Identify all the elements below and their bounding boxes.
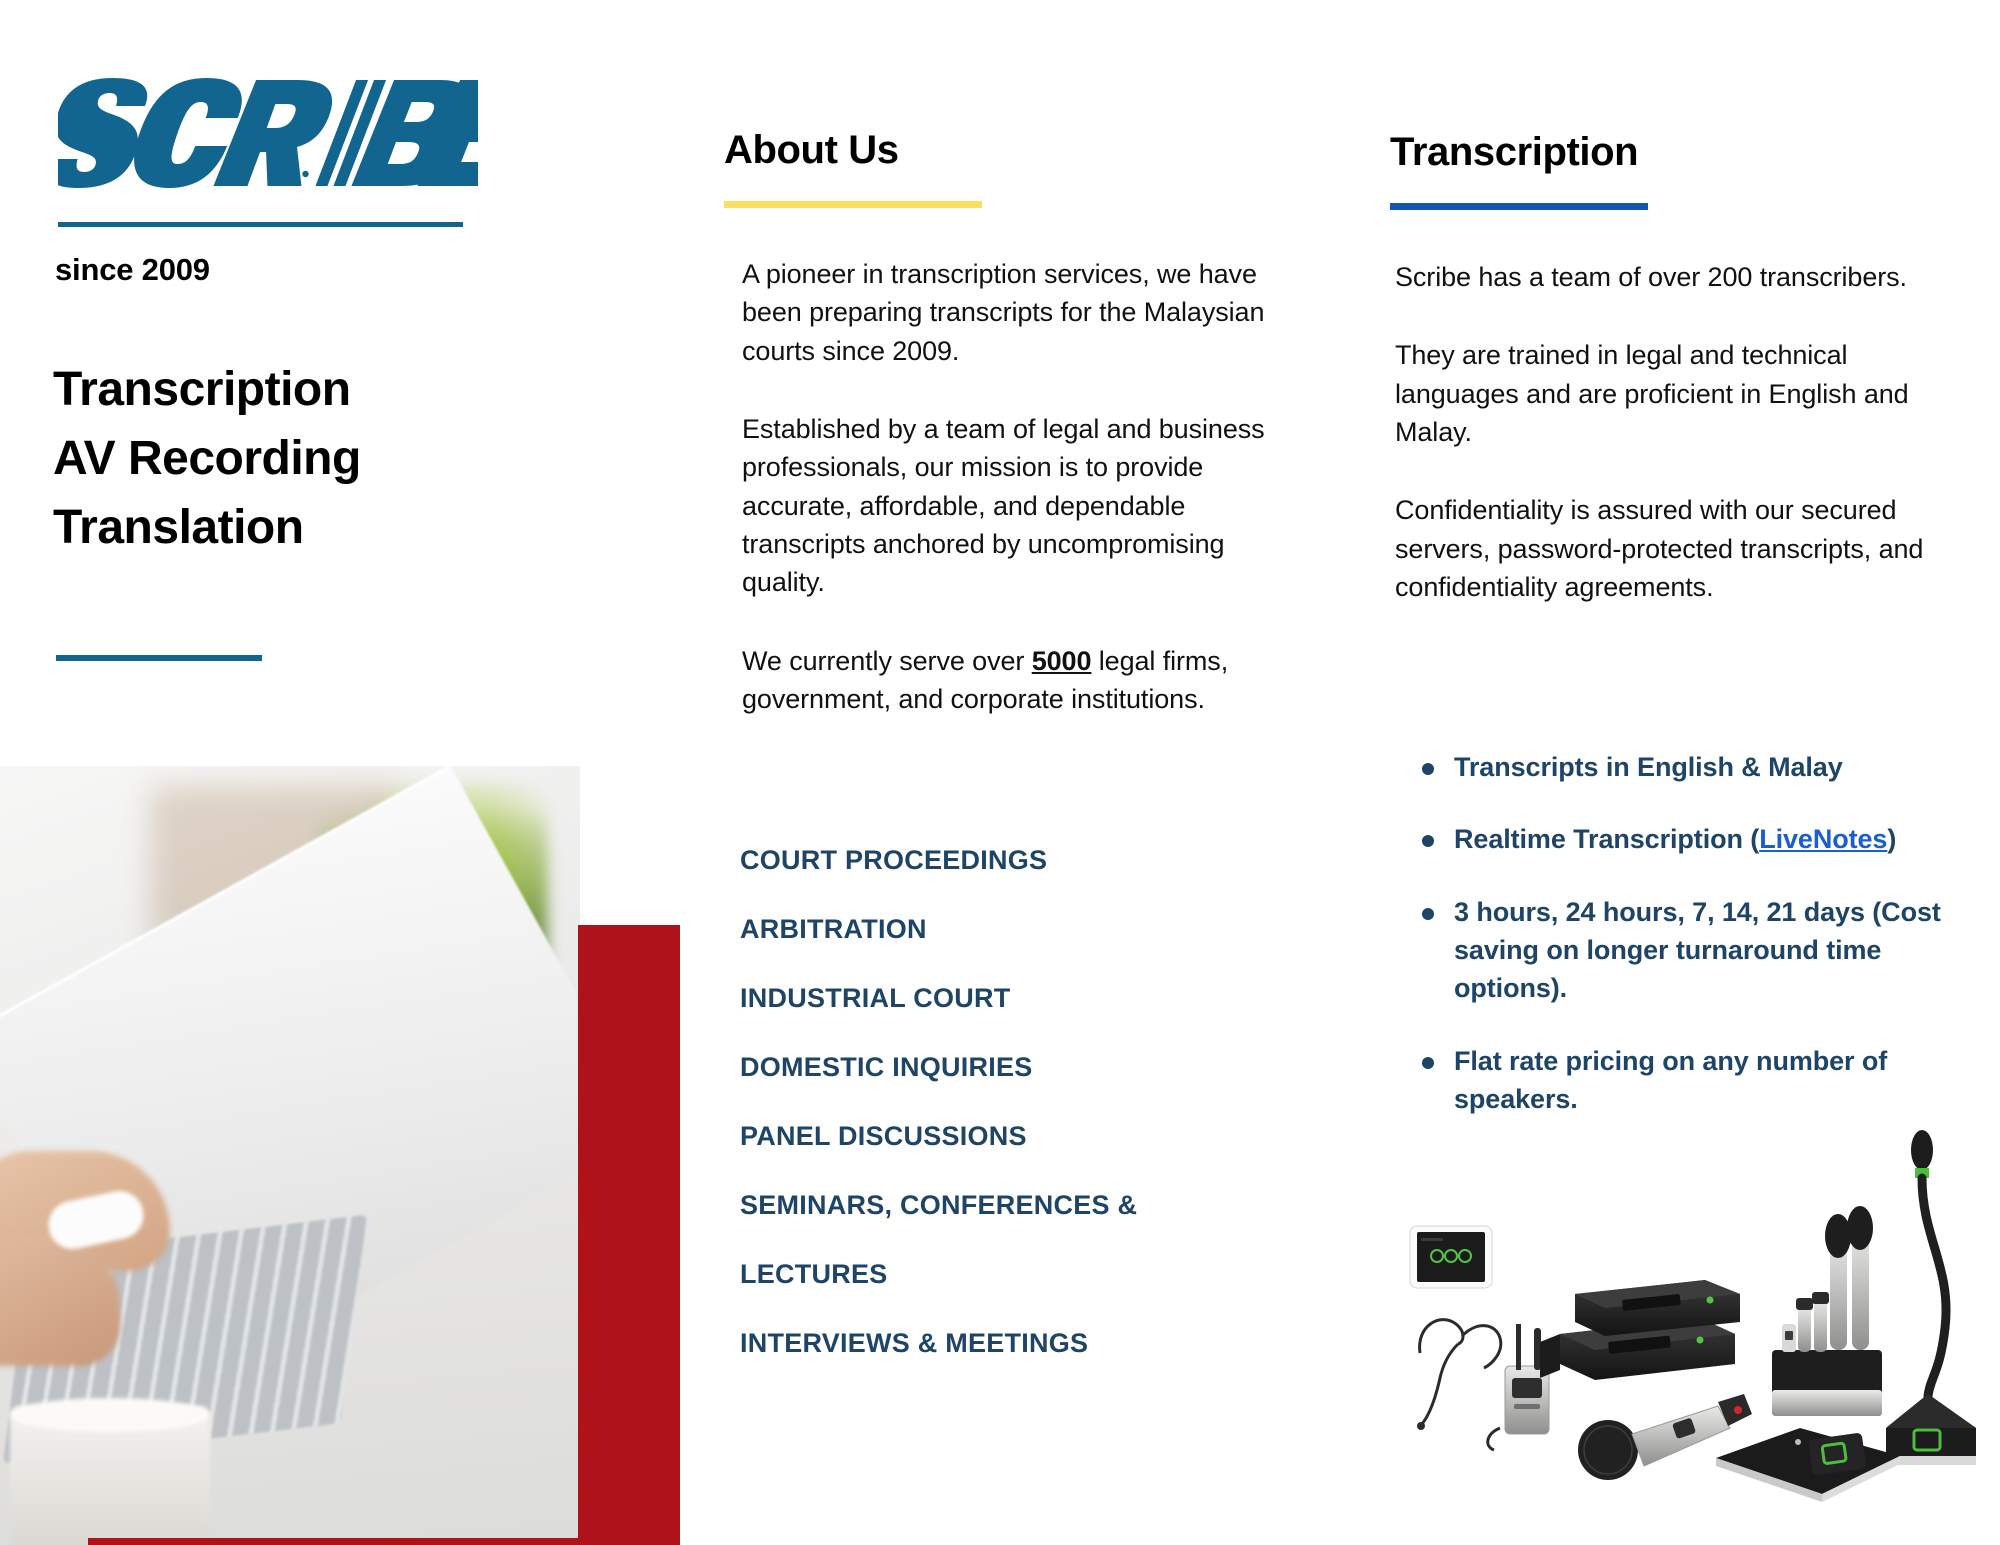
- bullet-icon: [1422, 1057, 1434, 1069]
- headset-microphone-icon: [1420, 1320, 1501, 1424]
- about-paragraph-1: A pioneer in transcription services, we …: [742, 255, 1282, 370]
- service-item: INTERVIEWS & MEETINGS: [740, 1328, 1300, 1359]
- tablet-icon: [1410, 1226, 1492, 1288]
- about-column: About Us A pioneer in transcription serv…: [724, 0, 1344, 1545]
- transcription-paragraph-1: Scribe has a team of over 200 transcribe…: [1395, 258, 1965, 296]
- transcription-title: Transcription: [1390, 130, 1648, 175]
- service-item: INDUSTRIAL COURT: [740, 983, 1300, 1014]
- av-equipment-illustration: [1400, 1128, 1990, 1523]
- service-item: COURT PROCEEDINGS: [740, 845, 1300, 876]
- red-bottom-strip: [88, 1538, 680, 1545]
- charging-station-icon: [1772, 1206, 1882, 1416]
- gooseneck-microphone-icon: [1886, 1130, 1976, 1465]
- transcription-column: Transcription Scribe has a team of over …: [1390, 0, 2000, 1545]
- transcription-body: Scribe has a team of over 200 transcribe…: [1395, 258, 1965, 606]
- feature-text: 3 hours, 24 hours, 7, 14, 21 days (Cost …: [1454, 893, 1992, 1008]
- feature-item: Realtime Transcription (LiveNotes): [1422, 820, 1992, 858]
- page-headline: Transcription AV Recording Translation: [53, 355, 361, 562]
- transcription-header: Transcription: [1390, 130, 1648, 210]
- scribe-logo-icon: [58, 70, 478, 190]
- transcription-paragraph-3: Confidentiality is assured with our secu…: [1395, 491, 1965, 606]
- service-item: PANEL DISCUSSIONS: [740, 1121, 1300, 1152]
- feature-text: Realtime Transcription (LiveNotes): [1454, 820, 1896, 858]
- transcription-title-underline: [1390, 203, 1648, 210]
- red-accent-band: [578, 925, 680, 1545]
- transcription-paragraph-2: They are trained in legal and technical …: [1395, 336, 1965, 451]
- conference-base-plate-icon: [1716, 1428, 1900, 1502]
- service-item: ARBITRATION: [740, 914, 1300, 945]
- service-item: DOMESTIC INQUIRIES: [740, 1052, 1300, 1083]
- about-title-underline: [724, 201, 982, 208]
- service-item: SEMINARS, CONFERENCES &: [740, 1190, 1300, 1221]
- feature-item: Transcripts in English & Malay: [1422, 748, 1992, 786]
- about-header: About Us: [724, 128, 982, 208]
- bullet-icon: [1422, 763, 1434, 775]
- serve-prefix: We currently serve over: [742, 646, 1032, 676]
- feature-prefix: Realtime Transcription (: [1454, 824, 1759, 854]
- about-paragraph-2: Established by a team of legal and busin…: [742, 410, 1282, 602]
- bullet-icon: [1422, 908, 1434, 920]
- av-equipment-photo: [1400, 1128, 1990, 1523]
- feature-item: 3 hours, 24 hours, 7, 14, 21 days (Cost …: [1422, 893, 1992, 1008]
- desk-laptop-photo: [0, 766, 580, 1545]
- left-column: since 2009 Transcription AV Recording Tr…: [0, 0, 700, 1545]
- about-paragraph-3: We currently serve over 5000 legal firms…: [742, 642, 1282, 719]
- feature-item: Flat rate pricing on any number of speak…: [1422, 1042, 1992, 1119]
- feature-text: Transcripts in English & Malay: [1454, 748, 1843, 786]
- headline-line-3: Translation: [53, 493, 361, 562]
- about-body: A pioneer in transcription services, we …: [742, 255, 1282, 718]
- feature-suffix: ): [1887, 824, 1896, 854]
- services-list: COURT PROCEEDINGS ARBITRATION INDUSTRIAL…: [740, 845, 1300, 1397]
- headline-line-2: AV Recording: [53, 424, 361, 493]
- since-label: since 2009: [55, 252, 210, 288]
- rack-receiver-icon: [1540, 1280, 1740, 1380]
- scribe-logo: [58, 70, 478, 190]
- logo-underline: [58, 222, 463, 227]
- bodypack-transmitter-icon: [1488, 1324, 1549, 1450]
- serve-count: 5000: [1032, 646, 1092, 676]
- service-item: LECTURES: [740, 1259, 1300, 1290]
- livenotes-link[interactable]: LiveNotes: [1759, 824, 1887, 854]
- bullet-icon: [1422, 835, 1434, 847]
- about-title: About Us: [724, 128, 982, 173]
- headline-divider: [56, 655, 262, 661]
- brochure-page: since 2009 Transcription AV Recording Tr…: [0, 0, 2000, 1545]
- headline-line-1: Transcription: [53, 355, 361, 424]
- transcription-features-list: Transcripts in English & Malay Realtime …: [1422, 748, 1992, 1152]
- feature-text: Flat rate pricing on any number of speak…: [1454, 1042, 1992, 1119]
